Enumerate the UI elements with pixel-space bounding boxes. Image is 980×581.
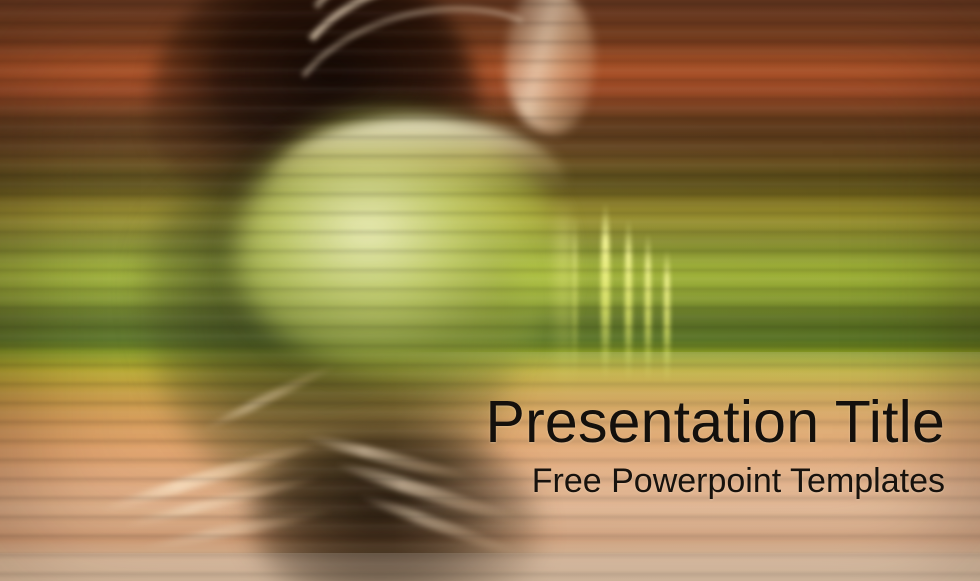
page-subtitle: Free Powerpoint Templates: [486, 464, 945, 500]
presentation-slide: Presentation Title Free Powerpoint Templ…: [0, 0, 980, 581]
page-title: Presentation Title: [486, 392, 945, 452]
lower-light-band: [0, 553, 980, 581]
title-block: Presentation Title Free Powerpoint Templ…: [486, 392, 945, 500]
face-profile-highlight: [505, 0, 595, 134]
